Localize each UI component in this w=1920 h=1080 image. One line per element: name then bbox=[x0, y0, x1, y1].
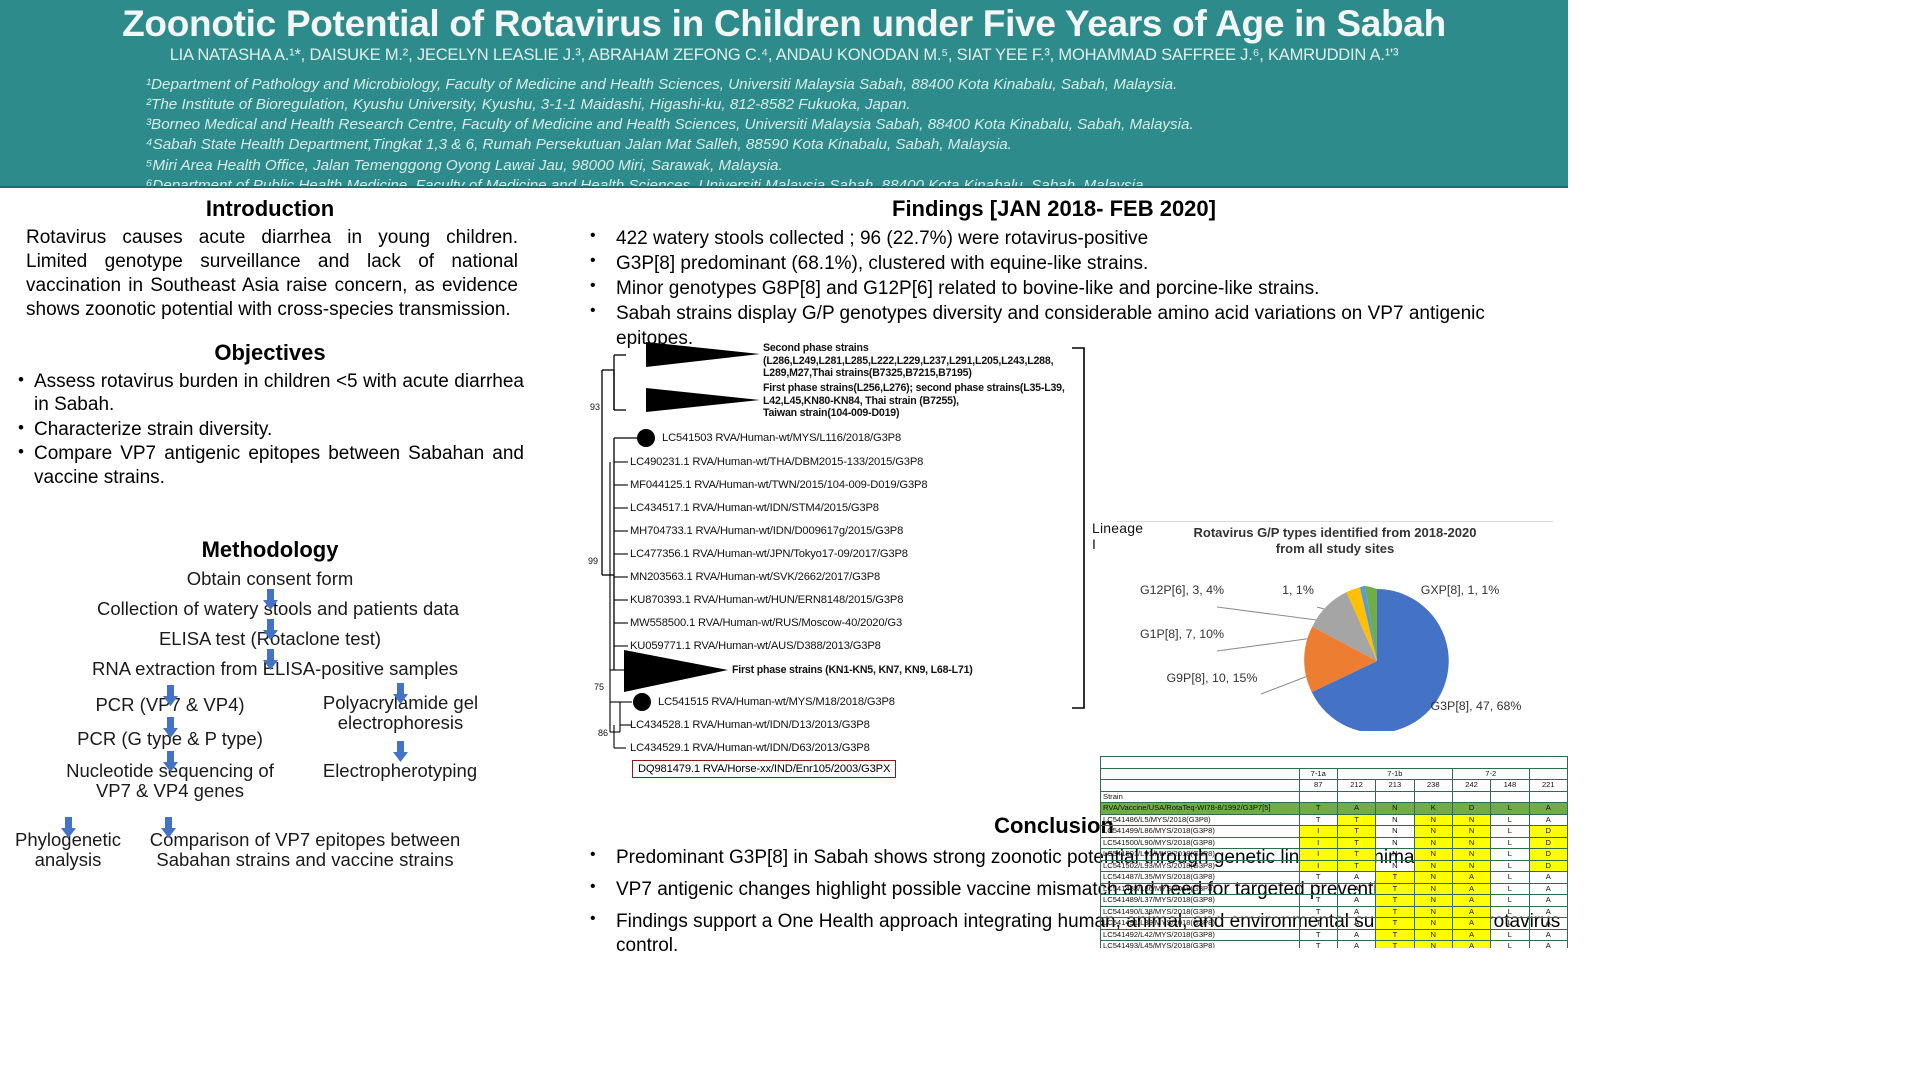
table-cell: A bbox=[1337, 918, 1375, 930]
table-row: LC541499/L86/MYS/2018(G3P8)ITNNNLD bbox=[1101, 826, 1568, 838]
table-cell: A bbox=[1337, 906, 1375, 918]
table-cell: N bbox=[1414, 872, 1452, 884]
tree-tip-label: MH704733.1 RVA/Human-wt/IDN/D009617g/201… bbox=[630, 525, 903, 537]
table-row: LC541486/L5/MYS/2018(G3P8)TTNNNLA bbox=[1101, 814, 1568, 826]
tree-tip-label: LC541503 RVA/Human-wt/MYS/L116/2018/G3P8 bbox=[662, 432, 901, 444]
table-cell: L bbox=[1491, 906, 1529, 918]
findings-list: 422 watery stools collected ; 96 (22.7%)… bbox=[540, 227, 1568, 351]
table-row: LC541493/L45/MYS/2018(G3P8)TATNALA bbox=[1101, 941, 1568, 949]
table-cell-strain: LC541492/L42/MYS/2018(G3P8) bbox=[1101, 929, 1300, 941]
table-cell-strain: LC541486/L5/MYS/2018(G3P8) bbox=[1101, 814, 1300, 826]
table-cell: A bbox=[1337, 929, 1375, 941]
table-cell: A bbox=[1529, 941, 1567, 949]
table-cell: T bbox=[1299, 803, 1337, 815]
table-cell: I bbox=[1299, 826, 1337, 838]
tree-tip-label: MF044125.1 RVA/Human-wt/TWN/2015/104-009… bbox=[630, 479, 927, 491]
table-cell: N bbox=[1414, 837, 1452, 849]
table-cell: N bbox=[1376, 849, 1414, 861]
flow-node-consent: Obtain consent form bbox=[150, 569, 390, 589]
table-cell: N bbox=[1376, 826, 1414, 838]
table-cell-strain: LC541489/L37/MYS/2018(G3P8) bbox=[1101, 895, 1300, 907]
tree-tip-label: LC477356.1 RVA/Human-wt/JPN/Tokyo17-09/2… bbox=[630, 548, 908, 560]
epitope-comparison-table: 7-1a7-1b7-287212213238242148221StrainRVA… bbox=[1100, 756, 1568, 948]
table-cell: T bbox=[1376, 918, 1414, 930]
table-cell: N bbox=[1414, 941, 1452, 949]
tree-tip-label: LC434529.1 RVA/Human-wt/IDN/D63/2013/G3P… bbox=[630, 742, 870, 754]
table-group-header: 7-1b bbox=[1337, 768, 1452, 780]
table-cell: L bbox=[1491, 814, 1529, 826]
table-cell: N bbox=[1414, 906, 1452, 918]
table-cell: N bbox=[1414, 918, 1452, 930]
table-cell-strain: RVA/Vaccine/USA/RotaTeq-WI78-8/1992/G3P7… bbox=[1101, 803, 1300, 815]
table-cell: T bbox=[1337, 860, 1375, 872]
table-cell: A bbox=[1529, 918, 1567, 930]
table-cell: T bbox=[1376, 941, 1414, 949]
poster-root: Zoonotic Potential of Rotavirus in Child… bbox=[0, 0, 1568, 1080]
tree-tip-label: KU870393.1 RVA/Human-wt/HUN/ERN8148/2015… bbox=[630, 594, 903, 606]
table-cell: T bbox=[1299, 918, 1337, 930]
down-arrow-icon bbox=[162, 717, 179, 739]
table-group-header: 7-2 bbox=[1452, 768, 1529, 780]
objectives-list: Assess rotavirus burden in children <5 w… bbox=[0, 370, 540, 490]
tree-tip-label: KU059771.1 RVA/Human-wt/AUS/D388/2013/G3… bbox=[630, 640, 881, 652]
affiliation-6: ⁶Department of Public Health Medicine, F… bbox=[146, 176, 1568, 188]
page-title: Zoonotic Potential of Rotavirus in Child… bbox=[0, 0, 1568, 44]
table-cell: N bbox=[1376, 860, 1414, 872]
table-strain-header-row: Strain bbox=[1101, 791, 1568, 803]
table-corner-cell bbox=[1101, 780, 1300, 792]
table-cell bbox=[1452, 791, 1490, 803]
table-cell-strain: LC541488/L36/MYS/2018(G3P8) bbox=[1101, 883, 1300, 895]
table-cell: K bbox=[1414, 803, 1452, 815]
table-cell: D bbox=[1529, 860, 1567, 872]
table-cell: A bbox=[1529, 929, 1567, 941]
table-cell: A bbox=[1337, 895, 1375, 907]
table-column-header: 212 bbox=[1337, 780, 1375, 792]
table-cell: L bbox=[1491, 929, 1529, 941]
table: 7-1a7-1b7-287212213238242148221StrainRVA… bbox=[1100, 756, 1568, 948]
list-item: G3P[8] predominant (68.1%), clustered wi… bbox=[540, 252, 1568, 276]
table-cell: T bbox=[1299, 814, 1337, 826]
table-row: LC541492/L42/MYS/2018(G3P8)TATNALA bbox=[1101, 929, 1568, 941]
pie-label-g12p6: G12P[6], 3, 4% bbox=[1127, 583, 1237, 598]
table-row: LC541487/L35/MYS/2018(G3P8)TATNALA bbox=[1101, 872, 1568, 884]
tree-tip-label: LC541515 RVA/Human-wt/MYS/M18/2018/G3P8 bbox=[658, 696, 895, 708]
table-cell: L bbox=[1491, 803, 1529, 815]
table-cell bbox=[1529, 791, 1567, 803]
list-item: 422 watery stools collected ; 96 (22.7%)… bbox=[540, 227, 1568, 251]
table-cell-strain: LC541502/L93/MYS/2018(G3P8) bbox=[1101, 860, 1300, 872]
poster-body: Introduction Rotavirus causes acute diar… bbox=[0, 188, 1568, 1080]
table-row: RVA/Vaccine/USA/RotaTeq-WI78-8/1992/G3P7… bbox=[1101, 803, 1568, 815]
table-column-header: 238 bbox=[1414, 780, 1452, 792]
table-cell bbox=[1337, 791, 1375, 803]
table-position-header-row: 87212213238242148221 bbox=[1101, 780, 1568, 792]
table-row: LC541501/L91/MYS/2018(G3P8)ITNNNLD bbox=[1101, 849, 1568, 861]
table-cell bbox=[1414, 791, 1452, 803]
pie-chart-figure: Rotavirus G/P types identified from 2018… bbox=[1095, 521, 1568, 731]
table-cell: D bbox=[1529, 826, 1567, 838]
table-cell: T bbox=[1376, 906, 1414, 918]
table-column-header: 221 bbox=[1529, 780, 1567, 792]
table-cell: N bbox=[1376, 803, 1414, 815]
findings-heading: Findings [JAN 2018- FEB 2020] bbox=[540, 196, 1568, 222]
table-row: LC541491/L39/MYS/2018(G3P8)TATNALA bbox=[1101, 918, 1568, 930]
affiliation-3: ³Borneo Medical and Health Research Cent… bbox=[146, 115, 1568, 135]
table-row: LC541500/L90/MYS/2018(G3P8)ITNNNLD bbox=[1101, 837, 1568, 849]
table-cell: T bbox=[1299, 941, 1337, 949]
flow-node-electropherotyping: Electropherotyping bbox=[310, 761, 490, 781]
methodology-heading: Methodology bbox=[0, 537, 540, 563]
pie-label-g1p8: G1P[8], 7, 10% bbox=[1127, 627, 1237, 642]
objectives-heading: Objectives bbox=[0, 340, 540, 366]
table-cell bbox=[1491, 791, 1529, 803]
bootstrap-value: 99 bbox=[588, 556, 598, 566]
bootstrap-value: 75 bbox=[594, 682, 604, 692]
table-cell: L bbox=[1491, 872, 1529, 884]
table-group-header: 7-1a bbox=[1299, 768, 1337, 780]
table-cell: L bbox=[1491, 941, 1529, 949]
table-column-header: Strain bbox=[1101, 791, 1300, 803]
table-column-header: 148 bbox=[1491, 780, 1529, 792]
table-cell: L bbox=[1491, 860, 1529, 872]
table-cell: L bbox=[1491, 826, 1529, 838]
table-cell: L bbox=[1491, 883, 1529, 895]
table-cell: T bbox=[1299, 895, 1337, 907]
table-cell: N bbox=[1414, 860, 1452, 872]
table-cell: T bbox=[1299, 906, 1337, 918]
table-cell: A bbox=[1452, 941, 1490, 949]
down-arrow-icon bbox=[162, 685, 179, 707]
table-cell: T bbox=[1299, 929, 1337, 941]
table-cell: A bbox=[1529, 883, 1567, 895]
affiliation-list: ¹Department of Pathology and Microbiolog… bbox=[0, 75, 1568, 188]
table-row: LC541488/L36/MYS/2018(G3P8)TATNALA bbox=[1101, 883, 1568, 895]
table-cell: A bbox=[1529, 872, 1567, 884]
table-cell: A bbox=[1452, 872, 1490, 884]
table-cell: T bbox=[1299, 872, 1337, 884]
table-cell bbox=[1299, 791, 1337, 803]
list-item: Minor genotypes G8P[8] and G12P[6] relat… bbox=[540, 277, 1568, 301]
table-cell: N bbox=[1452, 837, 1490, 849]
outgroup-label: DQ981479.1 RVA/Horse-xx/IND/Enr105/2003/… bbox=[632, 760, 896, 778]
table-cell: A bbox=[1452, 883, 1490, 895]
tree-tip-label: MN203563.1 RVA/Human-wt/SVK/2662/2017/G3… bbox=[630, 571, 880, 583]
table-column-header: 87 bbox=[1299, 780, 1337, 792]
table-cell: N bbox=[1452, 826, 1490, 838]
down-arrow-icon bbox=[262, 619, 279, 641]
table-cell: N bbox=[1414, 814, 1452, 826]
affiliation-1: ¹Department of Pathology and Microbiolog… bbox=[146, 75, 1568, 95]
table-cell-strain: LC541501/L91/MYS/2018(G3P8) bbox=[1101, 849, 1300, 861]
table-cell-strain: LC541487/L35/MYS/2018(G3P8) bbox=[1101, 872, 1300, 884]
table-column-header: 242 bbox=[1452, 780, 1490, 792]
table-cell: D bbox=[1452, 803, 1490, 815]
table-cell: N bbox=[1414, 826, 1452, 838]
left-column: Introduction Rotavirus causes acute diar… bbox=[0, 188, 540, 1080]
table-cell: I bbox=[1299, 837, 1337, 849]
table-cell: I bbox=[1299, 849, 1337, 861]
table-cell: D bbox=[1529, 837, 1567, 849]
table-cell: N bbox=[1414, 849, 1452, 861]
methodology-flowchart: Obtain consent form Collection of watery… bbox=[0, 565, 540, 905]
table-cell: A bbox=[1529, 895, 1567, 907]
table-cell: A bbox=[1337, 883, 1375, 895]
down-arrow-icon bbox=[392, 741, 409, 763]
clade-label-inner-first-phase: First phase strains (KN1-KN5, KN7, KN9, … bbox=[732, 664, 973, 677]
introduction-heading: Introduction bbox=[0, 196, 540, 222]
bootstrap-value: 86 bbox=[598, 728, 608, 738]
pie-label-other: 1, 1% bbox=[1263, 583, 1333, 598]
table-corner-cell bbox=[1101, 768, 1300, 780]
table-cell: T bbox=[1376, 895, 1414, 907]
table-cell: N bbox=[1452, 814, 1490, 826]
affiliation-4: ⁴Sabah State Health Department,Tingkat 1… bbox=[146, 135, 1568, 155]
flow-node-comparison: Comparison of VP7 epitopes between Sabah… bbox=[140, 830, 470, 870]
table-group-header-row: 7-1a7-1b7-2 bbox=[1101, 768, 1568, 780]
tree-tip-label: MW558500.1 RVA/Human-wt/RUS/Moscow-40/20… bbox=[630, 617, 902, 629]
tree-tip-label: LC490231.1 RVA/Human-wt/THA/DBM2015-133/… bbox=[630, 456, 923, 468]
list-item: Assess rotavirus burden in children <5 w… bbox=[14, 370, 524, 417]
table-cell bbox=[1376, 791, 1414, 803]
down-arrow-icon bbox=[262, 649, 279, 671]
pie-label-g3p8: G3P[8], 47, 68% bbox=[1421, 699, 1531, 714]
table-spacer-cell bbox=[1101, 757, 1568, 769]
tree-tip-label: LC434517.1 RVA/Human-wt/IDN/STM4/2015/G3… bbox=[630, 502, 879, 514]
table-row: LC541502/L93/MYS/2018(G3P8)ITNNNLD bbox=[1101, 860, 1568, 872]
table-cell: N bbox=[1452, 860, 1490, 872]
table-cell: N bbox=[1452, 849, 1490, 861]
table-cell: A bbox=[1529, 906, 1567, 918]
table-cell: T bbox=[1337, 849, 1375, 861]
down-arrow-icon bbox=[160, 817, 177, 839]
list-item: Compare VP7 antigenic epitopes between S… bbox=[14, 442, 524, 489]
table-cell: D bbox=[1529, 849, 1567, 861]
list-item: Characterize strain diversity. bbox=[14, 418, 524, 442]
table-cell: N bbox=[1376, 837, 1414, 849]
table-cell: A bbox=[1452, 918, 1490, 930]
table-cell: A bbox=[1337, 941, 1375, 949]
table-cell: T bbox=[1376, 883, 1414, 895]
table-cell-strain: LC541491/L39/MYS/2018(G3P8) bbox=[1101, 918, 1300, 930]
affiliation-5: ⁵Miri Area Health Office, Jalan Temenggo… bbox=[146, 156, 1568, 176]
table-cell-strain: LC541500/L90/MYS/2018(G3P8) bbox=[1101, 837, 1300, 849]
table-cell-strain: LC541490/L38/MYS/2018(G3P8) bbox=[1101, 906, 1300, 918]
table-spacer-row bbox=[1101, 757, 1568, 769]
table-cell: A bbox=[1337, 803, 1375, 815]
table-cell: T bbox=[1299, 883, 1337, 895]
table-cell: T bbox=[1337, 826, 1375, 838]
table-cell: T bbox=[1337, 837, 1375, 849]
table-cell: L bbox=[1491, 849, 1529, 861]
table-cell: L bbox=[1491, 895, 1529, 907]
tree-tip-label: LC434528.1 RVA/Human-wt/IDN/D13/2013/G3P… bbox=[630, 719, 870, 731]
pie-label-gxp8: GXP[8], 1, 1% bbox=[1405, 583, 1515, 598]
introduction-text: Rotavirus causes acute diarrhea in young… bbox=[0, 222, 540, 322]
table-cell: A bbox=[1337, 872, 1375, 884]
bootstrap-value: 93 bbox=[590, 402, 600, 412]
affiliation-2: ²The Institute of Bioregulation, Kyushu … bbox=[146, 95, 1568, 115]
table-cell: N bbox=[1414, 929, 1452, 941]
table-cell: A bbox=[1452, 906, 1490, 918]
table-cell: L bbox=[1491, 837, 1529, 849]
clade-label-first-phase: First phase strains(L256,L276); second p… bbox=[763, 382, 1065, 420]
table-cell: T bbox=[1376, 929, 1414, 941]
poster-header: Zoonotic Potential of Rotavirus in Child… bbox=[0, 0, 1568, 188]
down-arrow-icon bbox=[262, 589, 279, 611]
down-arrow-icon bbox=[60, 817, 77, 839]
author-list: LIA NATASHA A.¹*, DAISUKE M.², JECELYN L… bbox=[0, 46, 1568, 66]
table-cell: T bbox=[1376, 872, 1414, 884]
phylogenetic-tree-figure: Second phase strains (L286,L249,L281,L28… bbox=[580, 340, 1150, 750]
down-arrow-icon bbox=[392, 683, 409, 705]
table-cell: A bbox=[1529, 803, 1567, 815]
table-cell: A bbox=[1452, 929, 1490, 941]
down-arrow-icon bbox=[162, 751, 179, 773]
table-cell: L bbox=[1491, 918, 1529, 930]
table-cell: A bbox=[1529, 814, 1567, 826]
clade-label-second-phase: Second phase strains (L286,L249,L281,L28… bbox=[763, 342, 1053, 380]
table-cell: T bbox=[1337, 814, 1375, 826]
table-cell: N bbox=[1414, 895, 1452, 907]
table-row: LC541490/L38/MYS/2018(G3P8)TATNALA bbox=[1101, 906, 1568, 918]
pie-label-g9p8: G9P[8], 10, 15% bbox=[1157, 671, 1267, 686]
table-cell-strain: LC541499/L86/MYS/2018(G3P8) bbox=[1101, 826, 1300, 838]
table-cell: A bbox=[1452, 895, 1490, 907]
table-cell: I bbox=[1299, 860, 1337, 872]
table-cell: N bbox=[1376, 814, 1414, 826]
table-column-header: 213 bbox=[1376, 780, 1414, 792]
table-cell-strain: LC541493/L45/MYS/2018(G3P8) bbox=[1101, 941, 1300, 949]
table-cell: N bbox=[1414, 883, 1452, 895]
table-row: LC541489/L37/MYS/2018(G3P8)TATNALA bbox=[1101, 895, 1568, 907]
table-corner-cell bbox=[1529, 768, 1567, 780]
